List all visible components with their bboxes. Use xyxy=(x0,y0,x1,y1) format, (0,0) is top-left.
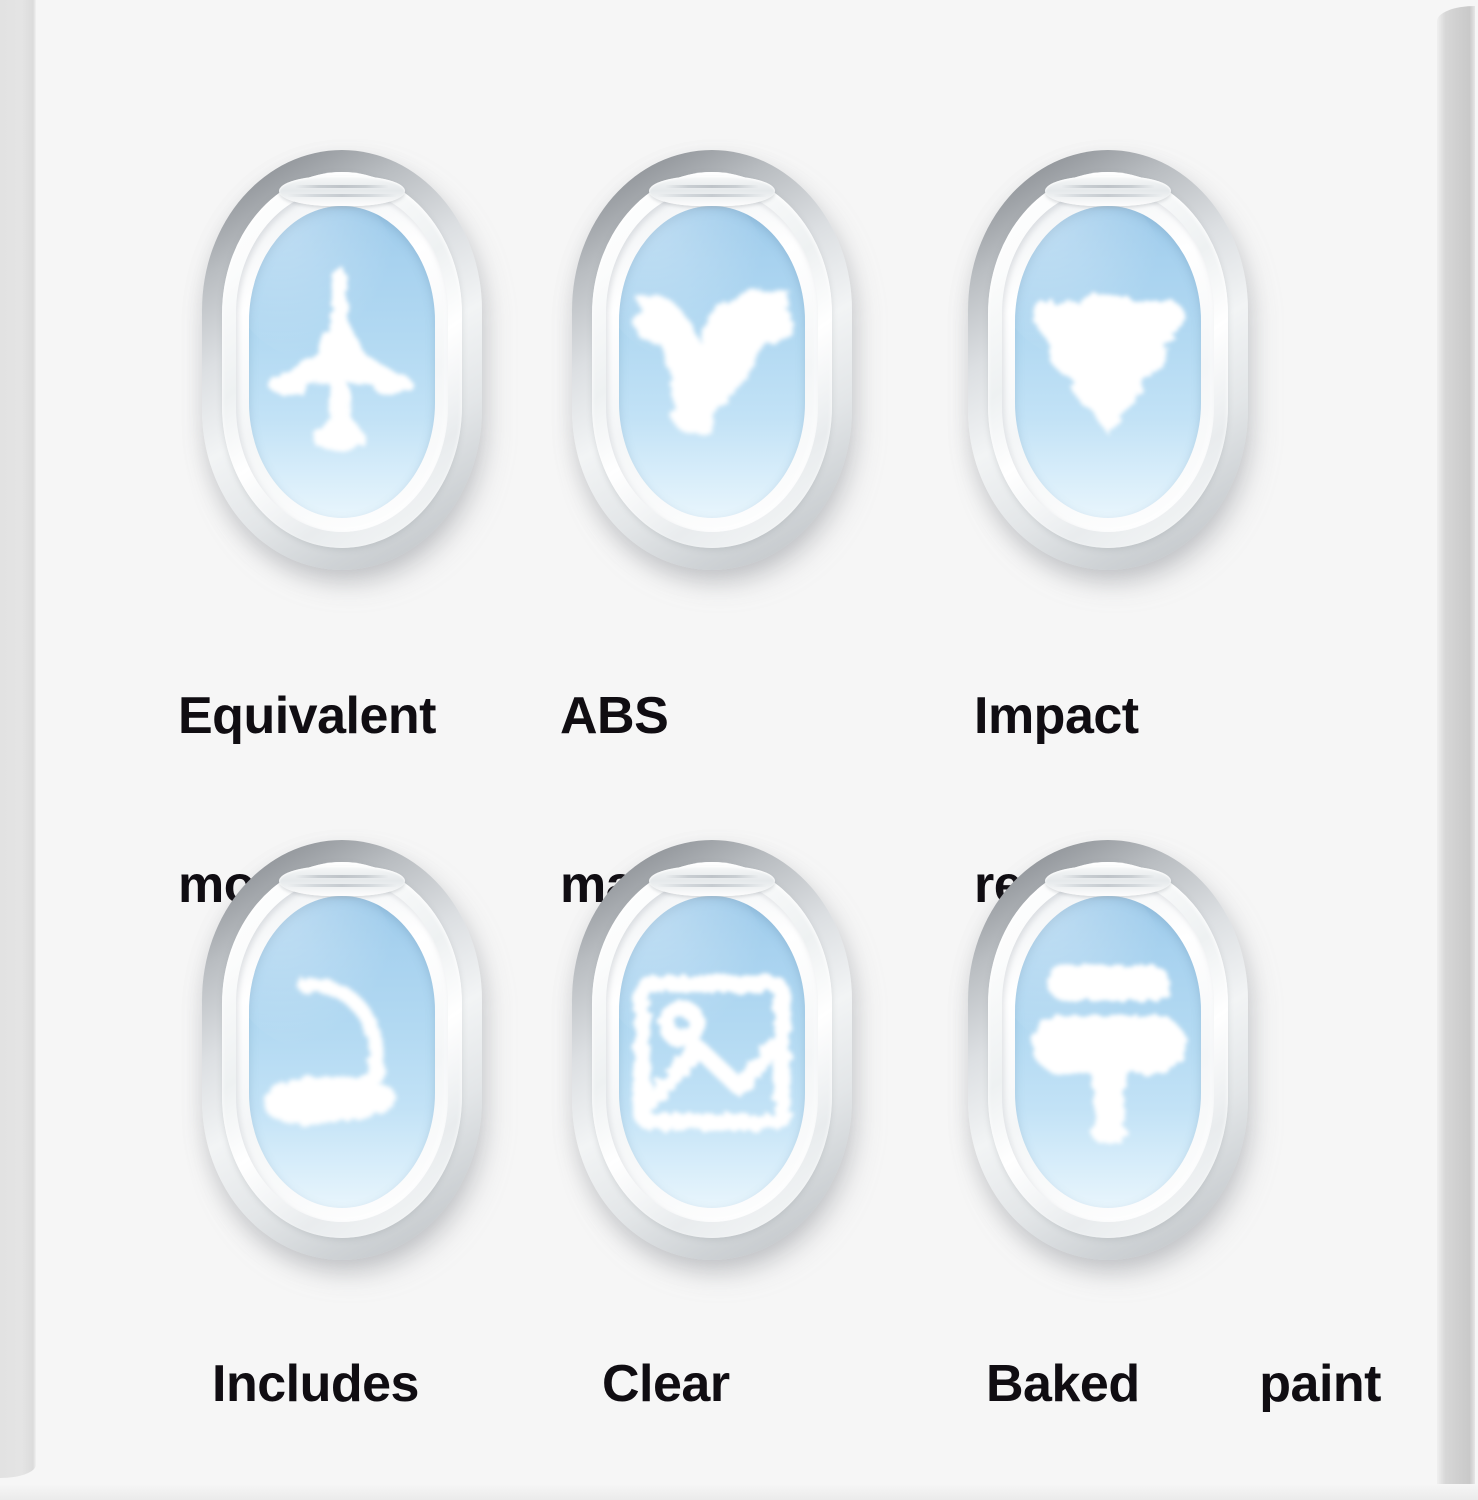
stand-cloud-icon xyxy=(249,896,435,1208)
window-sky-pane xyxy=(249,206,435,518)
feature-cell-impact-resistant: Impact resistant xyxy=(950,150,1350,840)
feature-label-includes-stand: Includes stand xyxy=(212,1258,582,1500)
feature-cell-baked-paint-process: Baked paint process xyxy=(950,840,1350,1480)
label-word-baked: Baked xyxy=(986,1342,1140,1426)
airplane-window-frame xyxy=(202,840,482,1260)
window-shade-slot xyxy=(649,866,775,896)
feature-label-clear-pattern: Clear pattern xyxy=(602,1258,972,1500)
airplane-window-frame xyxy=(572,150,852,570)
airplane-window-frame xyxy=(968,150,1248,570)
window-shade-slot xyxy=(279,866,405,896)
airplane-window-frame xyxy=(968,840,1248,1260)
feature-cell-equivalent-model: Equivalent model xyxy=(150,150,550,840)
tree-cloud-icon xyxy=(1015,896,1201,1208)
airplane-cloud-icon xyxy=(249,206,435,518)
label-line-1: ABS xyxy=(560,674,930,758)
feature-cell-includes-stand: Includes stand xyxy=(150,840,550,1480)
feature-grid: Equivalent model xyxy=(150,150,1390,1480)
window-sky-pane xyxy=(249,896,435,1208)
window-shade-slot xyxy=(1045,176,1171,206)
paper-edge-left xyxy=(0,0,36,1478)
picture-cloud-icon xyxy=(619,896,805,1208)
window-shade-slot xyxy=(279,176,405,206)
feature-label-baked-paint-process: Baked paint process xyxy=(986,1258,1386,1500)
paper-edge-right xyxy=(1437,6,1475,1488)
feature-cell-abs-material: ABS material xyxy=(550,150,950,840)
window-sky-pane xyxy=(619,896,805,1208)
dove-cloud-icon xyxy=(619,206,805,518)
label-line-1: Clear xyxy=(602,1342,972,1426)
feature-cell-clear-pattern: Clear pattern xyxy=(550,840,950,1480)
diamond-cloud-icon xyxy=(1015,206,1201,518)
label-line-1: Equivalent xyxy=(178,674,548,758)
label-line-1: Baked paint xyxy=(986,1342,1381,1426)
label-line-1: Includes xyxy=(212,1342,582,1426)
window-sky-pane xyxy=(619,206,805,518)
window-sky-pane xyxy=(1015,206,1201,518)
label-word-paint: paint xyxy=(1259,1342,1381,1426)
label-line-1: Impact xyxy=(974,674,1334,758)
airplane-window-frame xyxy=(202,150,482,570)
airplane-window-frame xyxy=(572,840,852,1260)
window-shade-slot xyxy=(1045,866,1171,896)
window-sky-pane xyxy=(1015,896,1201,1208)
window-shade-slot xyxy=(649,176,775,206)
